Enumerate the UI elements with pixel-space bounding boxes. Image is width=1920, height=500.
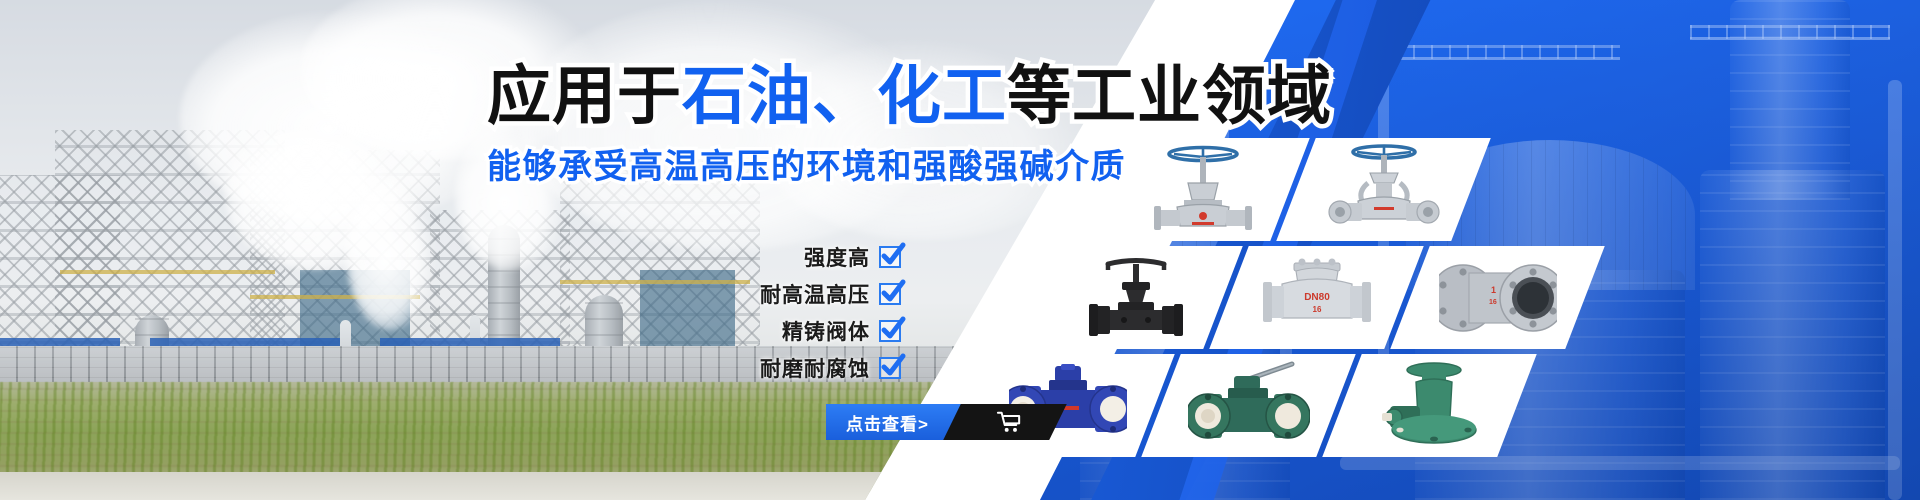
checkbox-checked-icon [879,246,901,268]
checkbox-checked-icon [879,357,901,379]
headline-part-2-highlight: 石油、化工 [682,60,1007,132]
product-grid: DN80 16 [1010,138,1610,488]
globe-valve-flanged-icon [1324,143,1444,237]
headline-part-3: 等工业领域 [1007,60,1332,132]
yellow-walkway [560,280,750,284]
product-tile-swing-check-valve[interactable]: DN80 16 [1209,246,1424,349]
headline-part-1: 应用于 [487,60,682,132]
swing-check-valve-icon: DN80 16 [1256,256,1378,340]
feature-item: 精铸阀体 [782,316,901,346]
feature-label: 强度高 [804,242,870,272]
feature-label: 耐磨耐腐蚀 [760,353,870,383]
shopping-cart-icon [996,410,1022,434]
view-details-button[interactable]: 点击查看> [826,404,955,440]
promo-banner: 应用于石油、化工等工业领域 能够承受高温高压的环境和强酸强碱介质 强度高 耐高温… [0,0,1920,500]
product-tile-lift-check-valve-flanged[interactable]: 1 16 [1390,246,1605,349]
forged-gate-valve-black-icon [1080,252,1192,344]
steam-plume [345,170,435,330]
checkbox-checked-icon [879,320,901,342]
svg-text:DN80: DN80 [1304,292,1330,303]
feature-item: 强度高 [804,242,901,272]
product-tile-forged-gate-valve-black[interactable] [1028,246,1243,349]
page-title: 应用于石油、化工等工业领域 [487,64,1332,128]
product-tile-gate-valve-stainless[interactable] [1095,138,1310,241]
product-tile-discharge-valve-green[interactable] [1322,354,1537,457]
feature-label: 耐高温高压 [760,279,870,309]
feature-item: 耐高温高压 [760,279,901,309]
yellow-walkway [60,270,275,274]
svg-text:16: 16 [1489,299,1497,306]
checkbox-checked-icon [879,283,901,305]
gate-valve-stainless-icon [1144,144,1262,236]
cta-group[interactable]: 点击查看> [826,404,1049,440]
svg-text:1: 1 [1491,285,1496,295]
product-tile-globe-valve-flanged[interactable] [1276,138,1491,241]
feature-label: 精铸阀体 [782,316,870,346]
feature-item: 耐磨耐腐蚀 [760,353,901,383]
svg-text:16: 16 [1312,305,1321,314]
lined-ball-valve-green-icon [1188,360,1310,452]
lift-check-valve-flanged-icon: 1 16 [1439,259,1557,337]
feature-checklist: 强度高 耐高温高压 精铸阀体 耐磨耐腐蚀 [760,242,901,383]
cta-label: 点击查看> [846,410,929,435]
cart-button[interactable] [969,404,1049,440]
discharge-valve-green-icon [1378,360,1482,452]
product-tile-lined-ball-valve-green[interactable] [1141,354,1356,457]
